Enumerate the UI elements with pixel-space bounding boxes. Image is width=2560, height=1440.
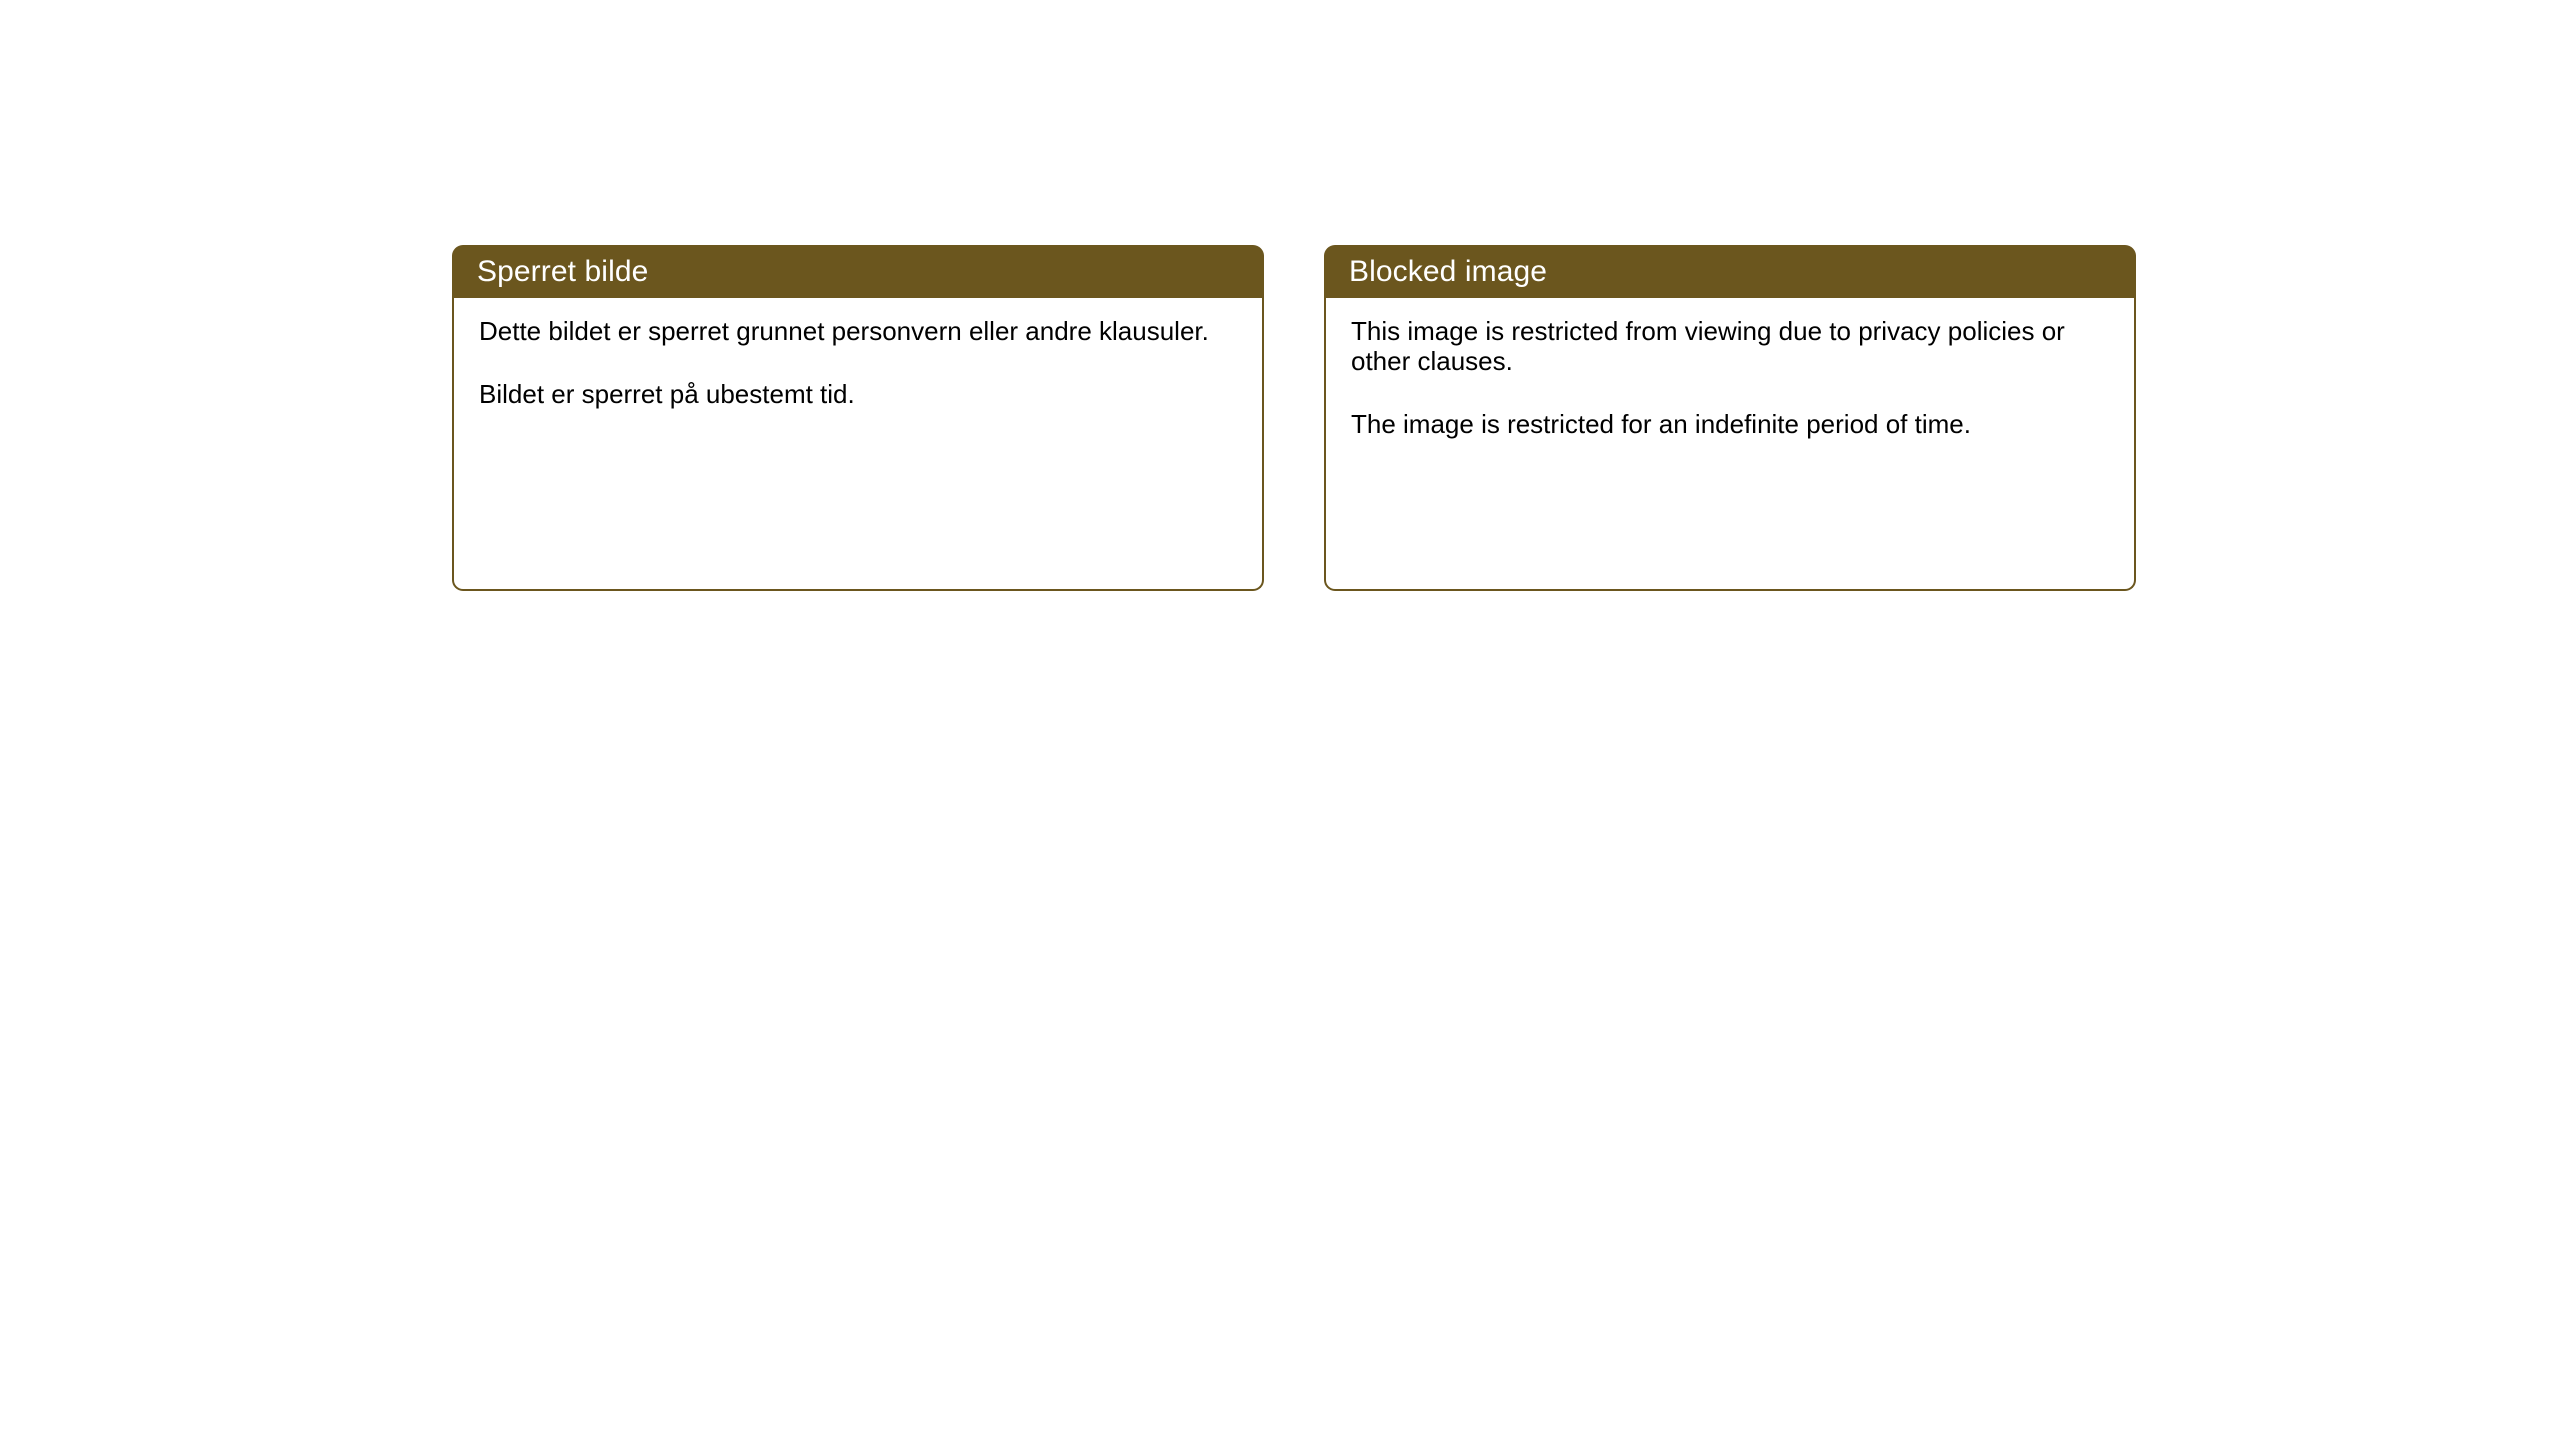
blocked-image-notice-norwegian: Sperret bilde Dette bildet er sperret gr…	[452, 245, 1264, 591]
notice-header-norwegian: Sperret bilde	[452, 245, 1264, 298]
notice-title-english: Blocked image	[1349, 257, 1547, 287]
notice-paragraph-primary-english: This image is restricted from viewing du…	[1351, 316, 2110, 376]
notice-title-norwegian: Sperret bilde	[477, 257, 648, 287]
blocked-image-notice-english: Blocked image This image is restricted f…	[1324, 245, 2136, 591]
notice-body-norwegian: Dette bildet er sperret grunnet personve…	[452, 298, 1264, 591]
notice-paragraph-secondary-english: The image is restricted for an indefinit…	[1351, 409, 2110, 439]
notice-paragraph-secondary-norwegian: Bildet er sperret på ubestemt tid.	[479, 379, 1238, 409]
notice-header-english: Blocked image	[1324, 245, 2136, 298]
page-root: Sperret bilde Dette bildet er sperret gr…	[0, 0, 2560, 1440]
notice-paragraph-primary-norwegian: Dette bildet er sperret grunnet personve…	[479, 316, 1238, 346]
notice-body-english: This image is restricted from viewing du…	[1324, 298, 2136, 591]
